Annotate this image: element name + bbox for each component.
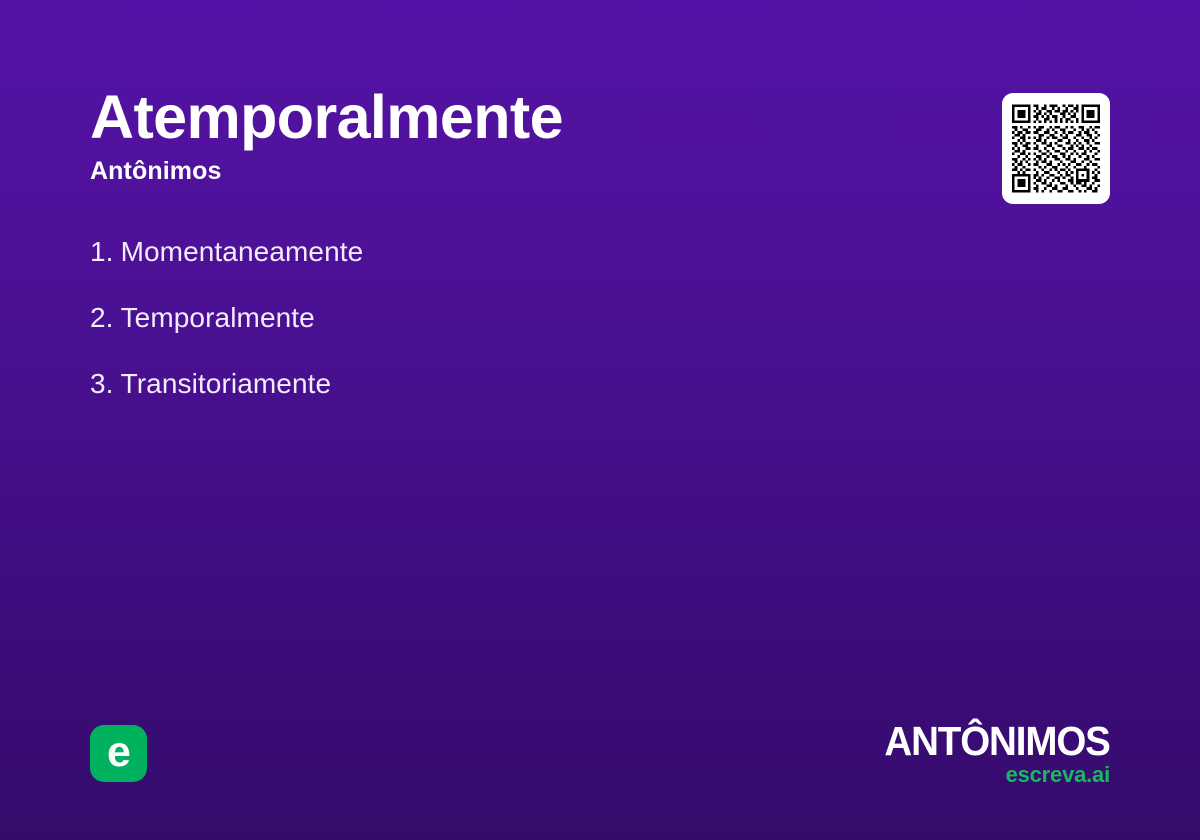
list-item-word: Momentaneamente xyxy=(121,236,364,267)
list-item: 2.Temporalmente xyxy=(90,304,950,332)
qr-code-icon xyxy=(1012,102,1100,195)
antonym-list: 1.Momentaneamente 2.Temporalmente 3.Tran… xyxy=(90,238,950,398)
list-item-index: 3. xyxy=(90,368,114,399)
wordmark-subtitle: escreva.ai xyxy=(870,764,1110,786)
page-title: Atemporalmente xyxy=(90,86,940,148)
wordmark-title: ANTÔNIMOS xyxy=(885,722,1110,761)
list-item-index: 1. xyxy=(90,236,114,267)
brand-mark-letter: e xyxy=(107,731,130,774)
antonym-card: Atemporalmente Antônimos 1.Momentaneamen… xyxy=(0,0,1200,840)
brand-wordmark: ANTÔNIMOS escreva.ai xyxy=(870,722,1110,786)
header: Atemporalmente Antônimos xyxy=(90,86,940,186)
list-item-word: Transitoriamente xyxy=(121,368,332,399)
escreva-logo-icon[interactable]: e xyxy=(90,725,147,782)
qr-code-card[interactable] xyxy=(1002,93,1110,204)
list-item: 1.Momentaneamente xyxy=(90,238,950,266)
list-item-index: 2. xyxy=(90,302,114,333)
list-item-word: Temporalmente xyxy=(121,302,315,333)
page-subtitle: Antônimos xyxy=(90,158,940,186)
list-item: 3.Transitoriamente xyxy=(90,370,950,398)
